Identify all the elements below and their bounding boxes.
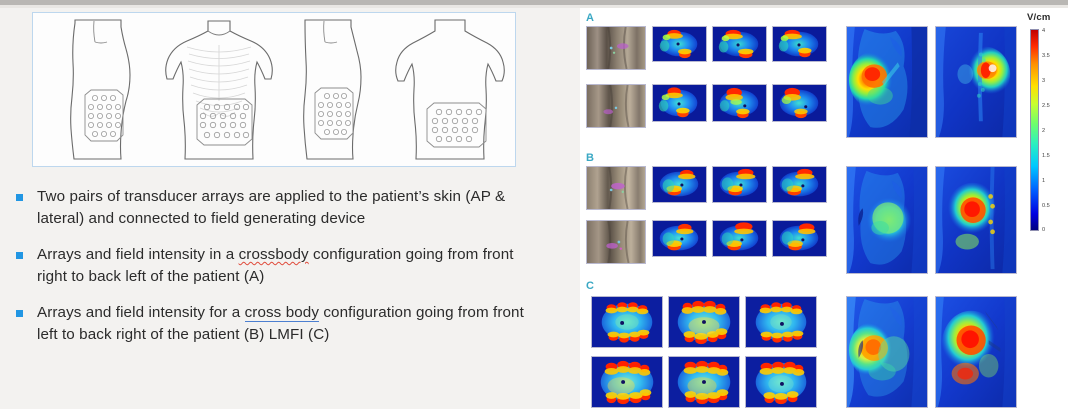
list-item: Arrays and field intensity for a cross b… xyxy=(8,302,548,345)
ct-coronal-grayscale-svg xyxy=(587,85,645,127)
transducer-array-placement-diagram xyxy=(32,12,516,167)
colorbar-tick: 1.5 xyxy=(1042,154,1050,160)
axial-field-map xyxy=(652,26,707,62)
ct-reference-image xyxy=(586,84,646,128)
colorbar-tick: 3.5 xyxy=(1042,54,1050,60)
array-patch xyxy=(85,90,123,141)
colorbar-title: V/cm xyxy=(1027,12,1051,23)
torso-figure-lateral-left xyxy=(287,17,383,164)
axial-field-map xyxy=(772,26,827,62)
axial-field-heatmap-svg xyxy=(653,167,706,202)
bullet-square-icon xyxy=(16,310,23,317)
axial-field-map xyxy=(591,296,663,348)
colorbar-tick: 0 xyxy=(1042,228,1045,234)
axial-field-map xyxy=(591,356,663,408)
axial-field-map xyxy=(712,84,767,122)
simulation-figure-pane: A xyxy=(580,8,1068,409)
list-item: Two pairs of transducer arrays are appli… xyxy=(8,186,548,229)
axial-field-heatmap-svg xyxy=(773,27,826,61)
slide-canvas: Two pairs of transducer arrays are appli… xyxy=(0,0,1068,409)
coronal-field-map-anterior xyxy=(846,166,928,274)
axial-field-heatmap-svg xyxy=(669,297,739,347)
panel-label-a: A xyxy=(586,12,594,24)
axial-field-heatmap-svg xyxy=(713,27,766,61)
coronal-field-heatmap-svg xyxy=(847,27,927,137)
coronal-field-heatmap-svg xyxy=(847,297,927,407)
bullet-3-text: Arrays and field intensity for a cross b… xyxy=(37,302,535,345)
axial-field-heatmap-svg xyxy=(773,221,826,256)
axial-field-heatmap-svg xyxy=(592,297,662,347)
left-content-pane: Two pairs of transducer arrays are appli… xyxy=(0,8,580,409)
colorbar-tick: 0.5 xyxy=(1042,204,1050,210)
coronal-field-heatmap-svg xyxy=(936,297,1016,407)
axial-field-map xyxy=(712,26,767,62)
coronal-field-map-posterior xyxy=(935,26,1017,138)
panel-label-b: B xyxy=(586,152,594,164)
bullet-list: Two pairs of transducer arrays are appli… xyxy=(8,186,548,360)
axial-field-map xyxy=(668,296,740,348)
axial-field-heatmap-svg xyxy=(713,221,766,256)
coronal-field-map-posterior xyxy=(935,296,1017,408)
bullet-2-text: Arrays and field intensity in a crossbod… xyxy=(37,244,535,287)
bullet-1-text: Two pairs of transducer arrays are appli… xyxy=(37,186,535,229)
axial-field-heatmap-svg xyxy=(746,357,816,407)
coronal-field-heatmap-svg xyxy=(847,167,927,273)
bullet-1-segment-0: Two pairs of transducer arrays are appli… xyxy=(37,188,505,227)
colorbar-tick: 2.5 xyxy=(1042,104,1050,110)
axial-field-map xyxy=(772,84,827,122)
array-patch xyxy=(427,103,486,147)
ct-coronal-grayscale-svg xyxy=(587,27,645,69)
torso-anterior-svg xyxy=(159,17,279,164)
colorbar-tick: 3 xyxy=(1042,79,1045,85)
axial-field-map xyxy=(712,220,767,257)
colorbar-gradient xyxy=(1030,29,1039,231)
axial-field-heatmap-svg xyxy=(592,357,662,407)
coronal-field-map-posterior xyxy=(935,166,1017,274)
colorbar-tick: 1 xyxy=(1042,179,1045,185)
axial-field-heatmap-svg xyxy=(653,85,706,121)
axial-field-map xyxy=(745,356,817,408)
list-item: Arrays and field intensity in a crossbod… xyxy=(8,244,548,287)
axial-field-heatmap-svg xyxy=(669,357,739,407)
colorbar-tick-labels: 4 3.5 3 2.5 2 1.5 1 0.5 0 xyxy=(1042,26,1066,234)
array-patch xyxy=(197,99,252,145)
bullet-2-segment-0: Arrays and field intensity in a xyxy=(37,246,239,263)
torso-lateral-left-svg xyxy=(287,17,383,164)
coronal-field-map-anterior xyxy=(846,26,928,138)
torso-figure-posterior xyxy=(391,17,509,164)
axial-field-map xyxy=(652,84,707,122)
axial-field-map xyxy=(652,166,707,203)
axial-field-map xyxy=(652,220,707,257)
panel-label-c: C xyxy=(586,280,594,292)
ct-coronal-grayscale-svg xyxy=(587,221,645,263)
spellcheck-underlined-term: crossbody xyxy=(239,246,309,263)
torso-figure-lateral-right xyxy=(55,17,151,164)
ct-reference-image xyxy=(586,26,646,70)
axial-field-heatmap-svg xyxy=(713,85,766,121)
colorbar-tick: 2 xyxy=(1042,129,1045,135)
ct-reference-image xyxy=(586,166,646,210)
array-partch xyxy=(315,88,353,139)
grammarcheck-underlined-term: cross body xyxy=(245,304,319,322)
axial-field-heatmap-svg xyxy=(653,27,706,61)
axial-field-heatmap-svg xyxy=(773,167,826,202)
axial-field-heatmap-svg xyxy=(713,167,766,202)
axial-field-heatmap-svg xyxy=(746,297,816,347)
axial-field-heatmap-svg xyxy=(653,221,706,256)
axial-field-map xyxy=(745,296,817,348)
colorbar-tick: 4 xyxy=(1042,29,1045,35)
torso-lateral-right-svg xyxy=(55,17,151,164)
axial-field-map xyxy=(772,220,827,257)
torso-figure-anterior xyxy=(159,17,279,164)
coronal-field-map-anterior xyxy=(846,296,928,408)
bullet-square-icon xyxy=(16,194,23,201)
torso-posterior-svg xyxy=(391,17,509,164)
colorbar-legend: V/cm 4 3.5 3 2.5 2 1.5 1 0.5 0 xyxy=(1027,12,1067,242)
axial-field-map xyxy=(712,166,767,203)
ct-reference-image xyxy=(586,220,646,264)
bullet-square-icon xyxy=(16,252,23,259)
axial-field-map xyxy=(668,356,740,408)
axial-field-heatmap-svg xyxy=(773,85,826,121)
axial-field-map xyxy=(772,166,827,203)
coronal-field-heatmap-svg xyxy=(936,167,1016,273)
ct-coronal-grayscale-svg xyxy=(587,167,645,209)
bullet-3-segment-0: Arrays and field intensity for a xyxy=(37,304,245,321)
coronal-field-heatmap-svg xyxy=(936,27,1016,137)
